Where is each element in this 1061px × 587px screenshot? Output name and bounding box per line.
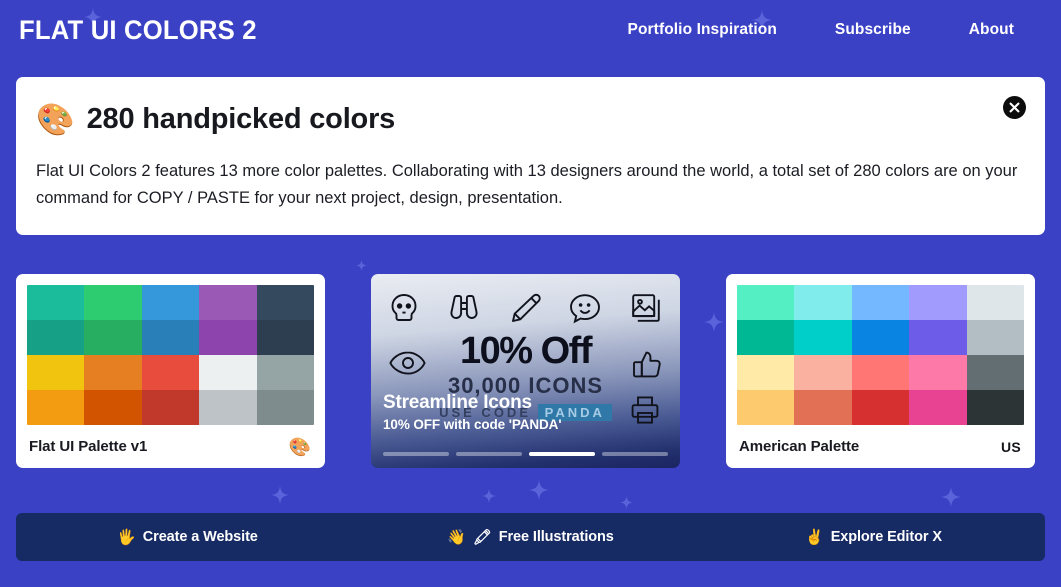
- color-swatch[interactable]: [794, 285, 851, 320]
- eye-icon: [389, 350, 427, 376]
- crayon-emoji: 🖍: [473, 530, 492, 545]
- color-swatch[interactable]: [737, 320, 794, 355]
- color-swatch[interactable]: [967, 390, 1024, 425]
- color-swatch[interactable]: [967, 285, 1024, 320]
- ad-progress-bar[interactable]: [529, 452, 595, 456]
- color-swatch[interactable]: [909, 355, 966, 390]
- ad-progress-bar[interactable]: [383, 452, 449, 456]
- color-swatch[interactable]: [852, 355, 909, 390]
- sparkle-icon: [271, 486, 289, 504]
- ad-subtitle: 10% OFF with code 'PANDA': [383, 417, 561, 432]
- color-swatch[interactable]: [257, 355, 314, 390]
- color-swatch[interactable]: [142, 285, 199, 320]
- color-swatch[interactable]: [27, 320, 84, 355]
- ad-title: Streamline Icons: [383, 392, 561, 414]
- color-swatch[interactable]: [794, 390, 851, 425]
- color-swatch[interactable]: [27, 355, 84, 390]
- images-icon: [630, 292, 662, 324]
- top-navigation-bar: FLAT UI COLORS 2 Portfolio Inspiration S…: [0, 0, 1061, 60]
- palette-badge-icon: 🎨: [289, 438, 311, 456]
- palette-swatch-grid: [737, 285, 1024, 425]
- palette-badge-country: US: [1001, 439, 1021, 455]
- color-swatch[interactable]: [199, 355, 256, 390]
- color-swatch[interactable]: [852, 320, 909, 355]
- skull-icon: [389, 292, 419, 324]
- palette-title: American Palette: [739, 438, 859, 455]
- color-swatch[interactable]: [737, 285, 794, 320]
- color-swatch[interactable]: [909, 320, 966, 355]
- color-swatch[interactable]: [257, 285, 314, 320]
- nav-portfolio-inspiration[interactable]: Portfolio Inspiration: [628, 21, 777, 39]
- footer-label: Explore Editor X: [831, 529, 942, 545]
- color-swatch[interactable]: [737, 355, 794, 390]
- speech-bubble-smile-icon: [568, 292, 602, 324]
- ad-progress-bar[interactable]: [602, 452, 668, 456]
- color-swatch[interactable]: [909, 390, 966, 425]
- ad-text-block: Streamline Icons 10% OFF with code 'PAND…: [383, 392, 561, 433]
- ad-progress-bar[interactable]: [456, 452, 522, 456]
- artist-palette-emoji: 🎨: [36, 104, 75, 135]
- pencil-icon: [509, 292, 541, 324]
- color-swatch[interactable]: [257, 390, 314, 425]
- victory-hand-emoji: ✌: [805, 530, 824, 545]
- palette-card-footer: Flat UI Palette v1 🎨: [27, 425, 314, 468]
- sparkle-icon: [356, 260, 367, 271]
- palette-title: Flat UI Palette v1: [29, 438, 147, 455]
- footer-explore-editor-x[interactable]: ✌ Explore Editor X: [702, 529, 1045, 545]
- banner-heading-row: 🎨 280 handpicked colors: [36, 103, 1019, 136]
- footer-free-illustrations[interactable]: 👋 🖍 Free Illustrations: [359, 529, 702, 545]
- thumbs-up-icon: [632, 350, 662, 380]
- close-icon[interactable]: [1003, 96, 1026, 119]
- footer-label: Free Illustrations: [499, 529, 614, 545]
- ad-artwork: 10% Off 30,000 ICONS USE CODE PANDA: [371, 274, 680, 468]
- color-swatch[interactable]: [84, 320, 141, 355]
- palette-card-flat-ui-v1[interactable]: Flat UI Palette v1 🎨: [16, 274, 325, 468]
- waving-hand-emoji: 👋: [447, 530, 466, 545]
- color-swatch[interactable]: [909, 285, 966, 320]
- palette-swatch-grid: [27, 285, 314, 425]
- color-swatch[interactable]: [794, 320, 851, 355]
- color-swatch[interactable]: [199, 390, 256, 425]
- color-swatch[interactable]: [852, 285, 909, 320]
- raised-hand-emoji: 🖐: [117, 530, 136, 545]
- color-swatch[interactable]: [737, 390, 794, 425]
- palette-cards-row: Flat UI Palette v1 🎨: [16, 274, 1045, 468]
- color-swatch[interactable]: [142, 355, 199, 390]
- footer-promo-bar: 🖐 Create a Website 👋 🖍 Free Illustration…: [16, 513, 1045, 561]
- sparkle-icon: [482, 489, 496, 503]
- sparkle-icon: [941, 487, 961, 507]
- sponsor-ad-card[interactable]: 10% Off 30,000 ICONS USE CODE PANDA: [371, 274, 680, 468]
- color-swatch[interactable]: [27, 285, 84, 320]
- color-swatch[interactable]: [852, 390, 909, 425]
- footer-create-a-website[interactable]: 🖐 Create a Website: [16, 529, 359, 545]
- color-swatch[interactable]: [142, 320, 199, 355]
- color-swatch[interactable]: [84, 390, 141, 425]
- sparkle-icon: [620, 496, 633, 509]
- main-nav: Portfolio Inspiration Subscribe About: [628, 21, 1041, 39]
- color-swatch[interactable]: [27, 390, 84, 425]
- nav-about[interactable]: About: [969, 21, 1014, 39]
- color-swatch[interactable]: [199, 320, 256, 355]
- footer-label: Create a Website: [143, 529, 258, 545]
- color-swatch[interactable]: [142, 390, 199, 425]
- color-swatch[interactable]: [84, 355, 141, 390]
- ad-icon-row-middle: [371, 350, 680, 380]
- color-swatch[interactable]: [967, 355, 1024, 390]
- palette-card-american[interactable]: American Palette US: [726, 274, 1035, 468]
- color-swatch[interactable]: [967, 320, 1024, 355]
- binoculars-icon: [447, 292, 481, 324]
- announcement-banner: 🎨 280 handpicked colors Flat UI Colors 2…: [16, 77, 1045, 235]
- color-swatch[interactable]: [199, 285, 256, 320]
- nav-subscribe[interactable]: Subscribe: [835, 21, 911, 39]
- sparkle-icon: [529, 480, 549, 500]
- color-swatch[interactable]: [84, 285, 141, 320]
- ad-carousel-progress[interactable]: [383, 452, 668, 456]
- banner-description: Flat UI Colors 2 features 13 more color …: [36, 158, 1019, 211]
- ad-icon-row-top: [371, 292, 680, 324]
- printer-icon: [630, 394, 660, 426]
- site-logo[interactable]: FLAT UI COLORS 2: [19, 15, 257, 46]
- close-x-glyph: [1009, 102, 1020, 113]
- color-swatch[interactable]: [257, 320, 314, 355]
- banner-title: 280 handpicked colors: [87, 103, 395, 136]
- color-swatch[interactable]: [794, 355, 851, 390]
- palette-card-footer: American Palette US: [737, 425, 1024, 468]
